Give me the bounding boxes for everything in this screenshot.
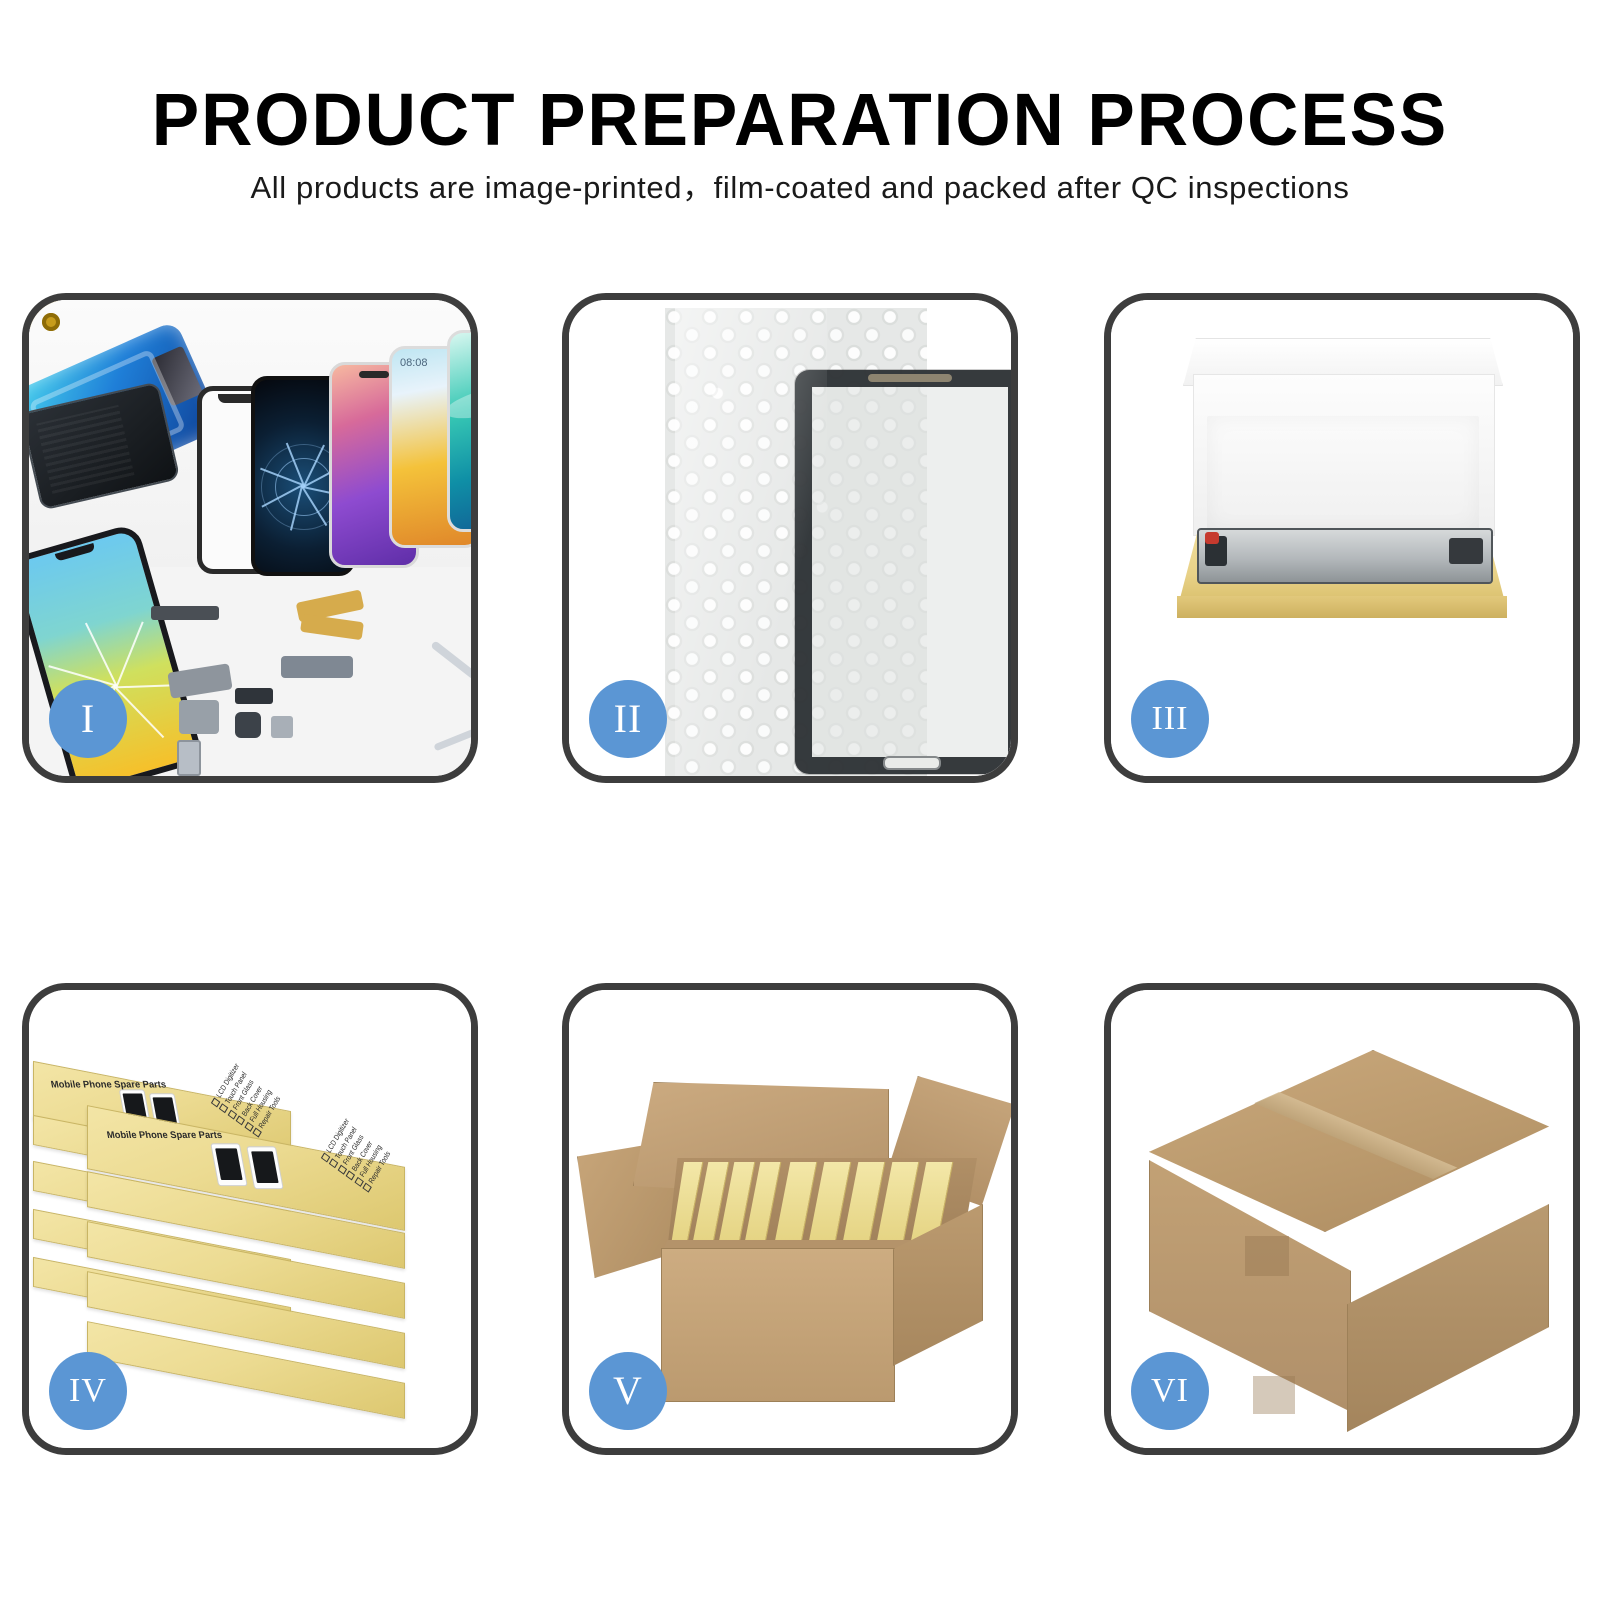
- flex-cable-part-2: [300, 614, 364, 640]
- home-button-slot: [883, 756, 941, 770]
- retail-box-label-front: Mobile Phone Spare Parts: [106, 1130, 223, 1141]
- phone-front-glass: [795, 370, 1011, 774]
- crack-lines: [303, 486, 304, 487]
- carton-flap-mark-bottom: [1253, 1376, 1295, 1414]
- process-step-6-panel: VI: [1104, 983, 1580, 1455]
- earpiece-slot: [868, 374, 952, 382]
- white-foam-liner: [1207, 416, 1479, 530]
- camera-module-part: [235, 712, 261, 738]
- button-part-2: [271, 716, 293, 738]
- plastic-glare: [675, 308, 827, 776]
- process-step-3-panel: III: [1104, 293, 1580, 783]
- process-step-5-panel: V: [562, 983, 1018, 1455]
- screwdriver-tool: [433, 728, 471, 752]
- tweezers-tool: [430, 640, 471, 680]
- step-badge-4: IV: [49, 1352, 127, 1430]
- red-label-dot: [1205, 532, 1219, 544]
- step-badge-3: III: [1131, 680, 1209, 758]
- wireless-charging-coil-part: [29, 300, 73, 344]
- step-badge-5: V: [589, 1352, 667, 1430]
- teal-display-phone: [447, 330, 471, 532]
- retail-box-label-back: Mobile Phone Spare Parts: [50, 1079, 167, 1090]
- bubble-wrap-sheet: [665, 308, 927, 776]
- sim-tray-part: [177, 740, 201, 776]
- flex-cable-part-3: [281, 656, 353, 678]
- mailer-box-front-wall: [1177, 596, 1507, 618]
- retail-box-checklist-front: LCD Digitizer Touch Panel Front Glass Ba…: [320, 1117, 394, 1194]
- carton-front-face: [661, 1248, 895, 1402]
- process-step-grid: 08:08: [0, 0, 1600, 1600]
- step-badge-6: VI: [1131, 1352, 1209, 1430]
- process-step-1-panel: 08:08: [22, 293, 478, 783]
- earpiece-speaker-part: [151, 606, 219, 620]
- step-badge-1: I: [49, 680, 127, 758]
- button-part-1: [235, 688, 273, 704]
- step-badge-2: II: [589, 680, 667, 758]
- wrapped-screen-in-box: [1197, 528, 1493, 584]
- process-step-4-panel: Mobile Phone Spare Parts LCD Digitizer T…: [22, 983, 478, 1455]
- sealed-carton-right-face: [1347, 1204, 1549, 1432]
- flex-cable-part-5: [179, 700, 219, 734]
- retail-box-checklist-back: LCD Digitizer Touch Panel Front Glass Ba…: [210, 1062, 284, 1139]
- carton-flap-mark-top: [1245, 1236, 1289, 1276]
- process-step-2-panel: II: [562, 293, 1018, 783]
